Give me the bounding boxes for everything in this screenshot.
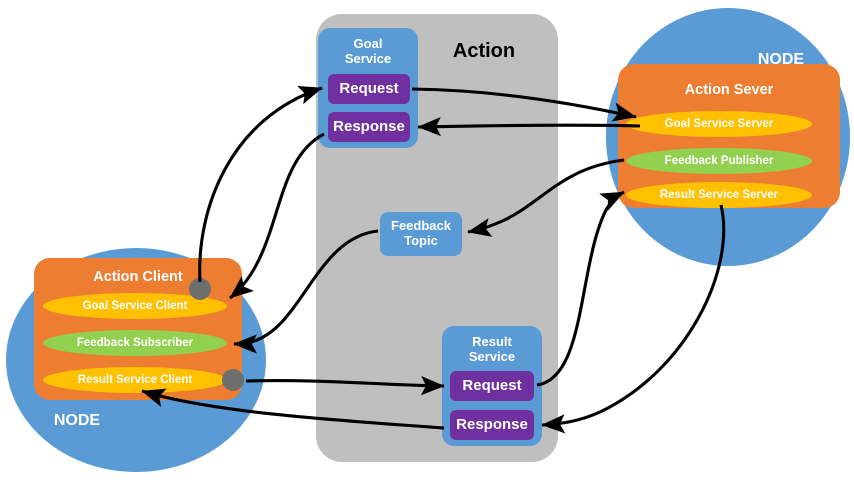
server-node-label: NODE [738,50,824,70]
client-node-label: NODE [46,411,108,431]
action-client-label: Action Client [34,267,242,287]
result-service-server-label[interactable]: Result Service Server [626,186,812,204]
goal-service-client-label[interactable]: Goal Service Client [43,297,227,315]
result-service-title: Result Service [450,331,534,369]
goal-service-server-label[interactable]: Goal Service Server [626,115,812,133]
feedback-publisher-label[interactable]: Feedback Publisher [626,152,812,170]
goal-service-title: Goal Service [326,33,410,71]
feedback-topic-label[interactable]: Feedback Topic [380,213,462,255]
goal-service-response-label[interactable]: Response [328,112,410,142]
result-service-request-label[interactable]: Request [450,371,534,401]
feedback-subscriber-label[interactable]: Feedback Subscriber [43,334,227,352]
goal-service-request-label[interactable]: Request [328,74,410,104]
action-diagram-canvas: Action NODE Action Sever Goal Service Se… [0,0,854,480]
result-service-client-label[interactable]: Result Service Client [43,371,227,389]
action-server-label: Action Sever [618,80,840,100]
action-container-title: Action [436,39,532,63]
result-service-response-label[interactable]: Response [450,410,534,440]
